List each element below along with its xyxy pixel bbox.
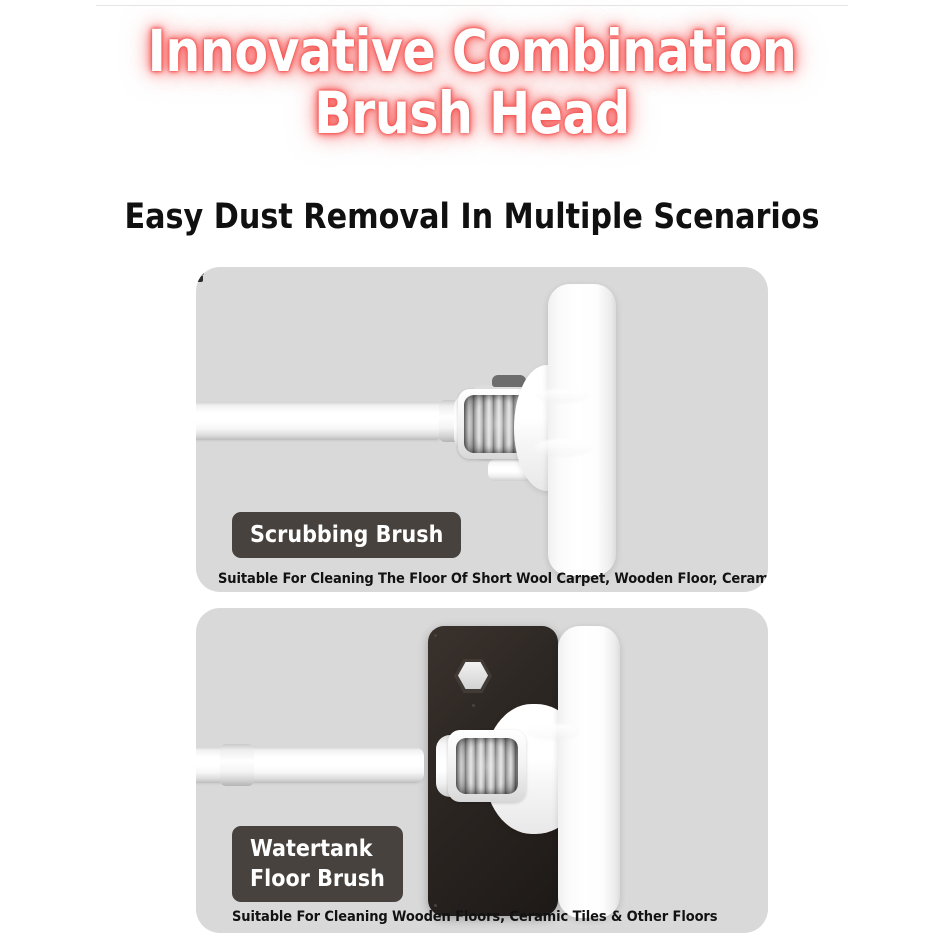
- top-divider: [96, 5, 848, 6]
- label-badge-scrubbing-brush: Scrubbing Brush: [232, 512, 461, 558]
- product-panel-scrubbing-brush: Scrubbing Brush Suitable For Cleaning Th…: [196, 267, 768, 592]
- page-title-line-2: Brush Head: [28, 82, 915, 144]
- t-shaped-floor-head: [558, 626, 620, 918]
- page-subtitle: Easy Dust Removal In Multiple Scenarios: [19, 196, 925, 238]
- page-title: Innovative Combination Brush Head: [28, 20, 915, 144]
- badge-line-2: Floor Brush: [250, 864, 385, 894]
- telescoping-collar: [220, 744, 254, 786]
- tank-screw-bl: [434, 904, 437, 907]
- head-gloss-upper: [536, 389, 588, 403]
- extension-wand: [196, 402, 444, 440]
- clip-screw-bottom: [196, 275, 203, 282]
- label-badge-watertank-floor-brush: Watertank Floor Brush: [232, 826, 403, 902]
- caption-watertank-floor-brush: Suitable For Cleaning Wooden Floors, Cer…: [232, 908, 717, 926]
- tank-screw-mid: [472, 704, 475, 707]
- t-shaped-floor-head: [548, 284, 616, 576]
- ribbed-hose-connector: [456, 738, 518, 794]
- badge-line-1: Watertank: [250, 834, 385, 864]
- head-gloss-lower: [534, 439, 592, 457]
- badge-line-1: Scrubbing Brush: [250, 520, 443, 550]
- head-gloss: [526, 724, 580, 740]
- caption-scrubbing-brush: Suitable For Cleaning The Floor Of Short…: [218, 570, 768, 588]
- tank-screw-tl: [434, 634, 437, 637]
- product-panel-watertank-floor-brush: Watertank Floor Brush Suitable For Clean…: [196, 608, 768, 933]
- clip-tab-top: [492, 375, 526, 387]
- page-title-line-1: Innovative Combination: [148, 17, 797, 85]
- clip-screw-top: [196, 267, 204, 275]
